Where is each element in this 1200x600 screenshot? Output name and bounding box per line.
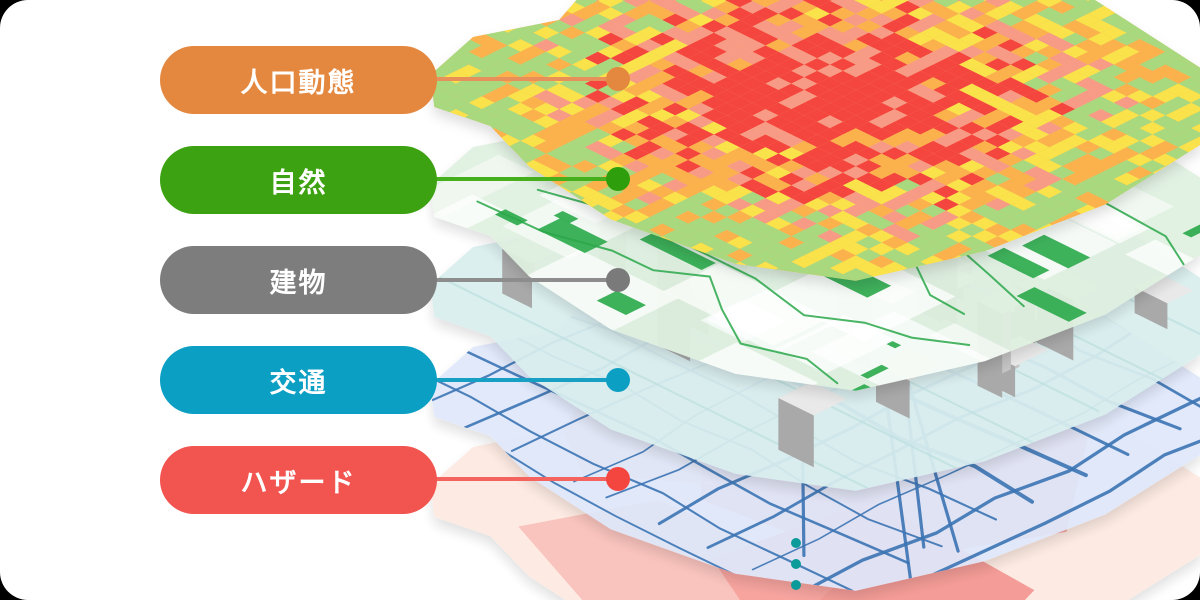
layer-pill-nature[interactable]: 自然 — [160, 146, 437, 214]
layer-pill-population[interactable]: 人口動態 — [160, 46, 437, 114]
layer-pill-label: 交通 — [270, 361, 328, 400]
plane-buildings — [411, 72, 1200, 507]
layer-pill-transport[interactable]: 交通 — [160, 346, 437, 414]
layer-pill-label: ハザード — [241, 461, 357, 500]
connector-line-buildings — [430, 278, 620, 282]
layer-label-column: 人口動態自然建物交通ハザード — [0, 0, 1200, 600]
layer-anchor-dot-buildings[interactable] — [606, 268, 630, 292]
layer-pill-hazard[interactable]: ハザード — [160, 446, 437, 514]
layer-anchor-dot-nature[interactable] — [606, 167, 630, 191]
connector-line-hazard — [430, 477, 620, 481]
connector-line-transport — [430, 378, 620, 382]
layer-pill-label: 人口動態 — [241, 61, 357, 100]
more-layers-ellipsis[interactable] — [789, 538, 803, 590]
connector-line-nature — [430, 177, 620, 181]
layer-stack-diagram: 人口動態自然建物交通ハザード — [0, 0, 1200, 600]
layer-anchor-dot-population[interactable] — [606, 67, 630, 91]
ellipsis-dot — [791, 538, 801, 548]
ellipsis-dot — [791, 580, 801, 590]
ellipsis-dot — [791, 559, 801, 569]
layer-pill-label: 建物 — [270, 261, 328, 300]
layer-anchor-dot-hazard[interactable] — [606, 467, 630, 491]
layer-pill-buildings[interactable]: 建物 — [160, 246, 437, 314]
layer-pill-label: 自然 — [270, 161, 328, 200]
layer-anchor-dot-transport[interactable] — [606, 368, 630, 392]
connector-line-population — [430, 77, 620, 81]
plane-nature — [408, 0, 1200, 419]
plane-hazard — [430, 288, 1200, 600]
